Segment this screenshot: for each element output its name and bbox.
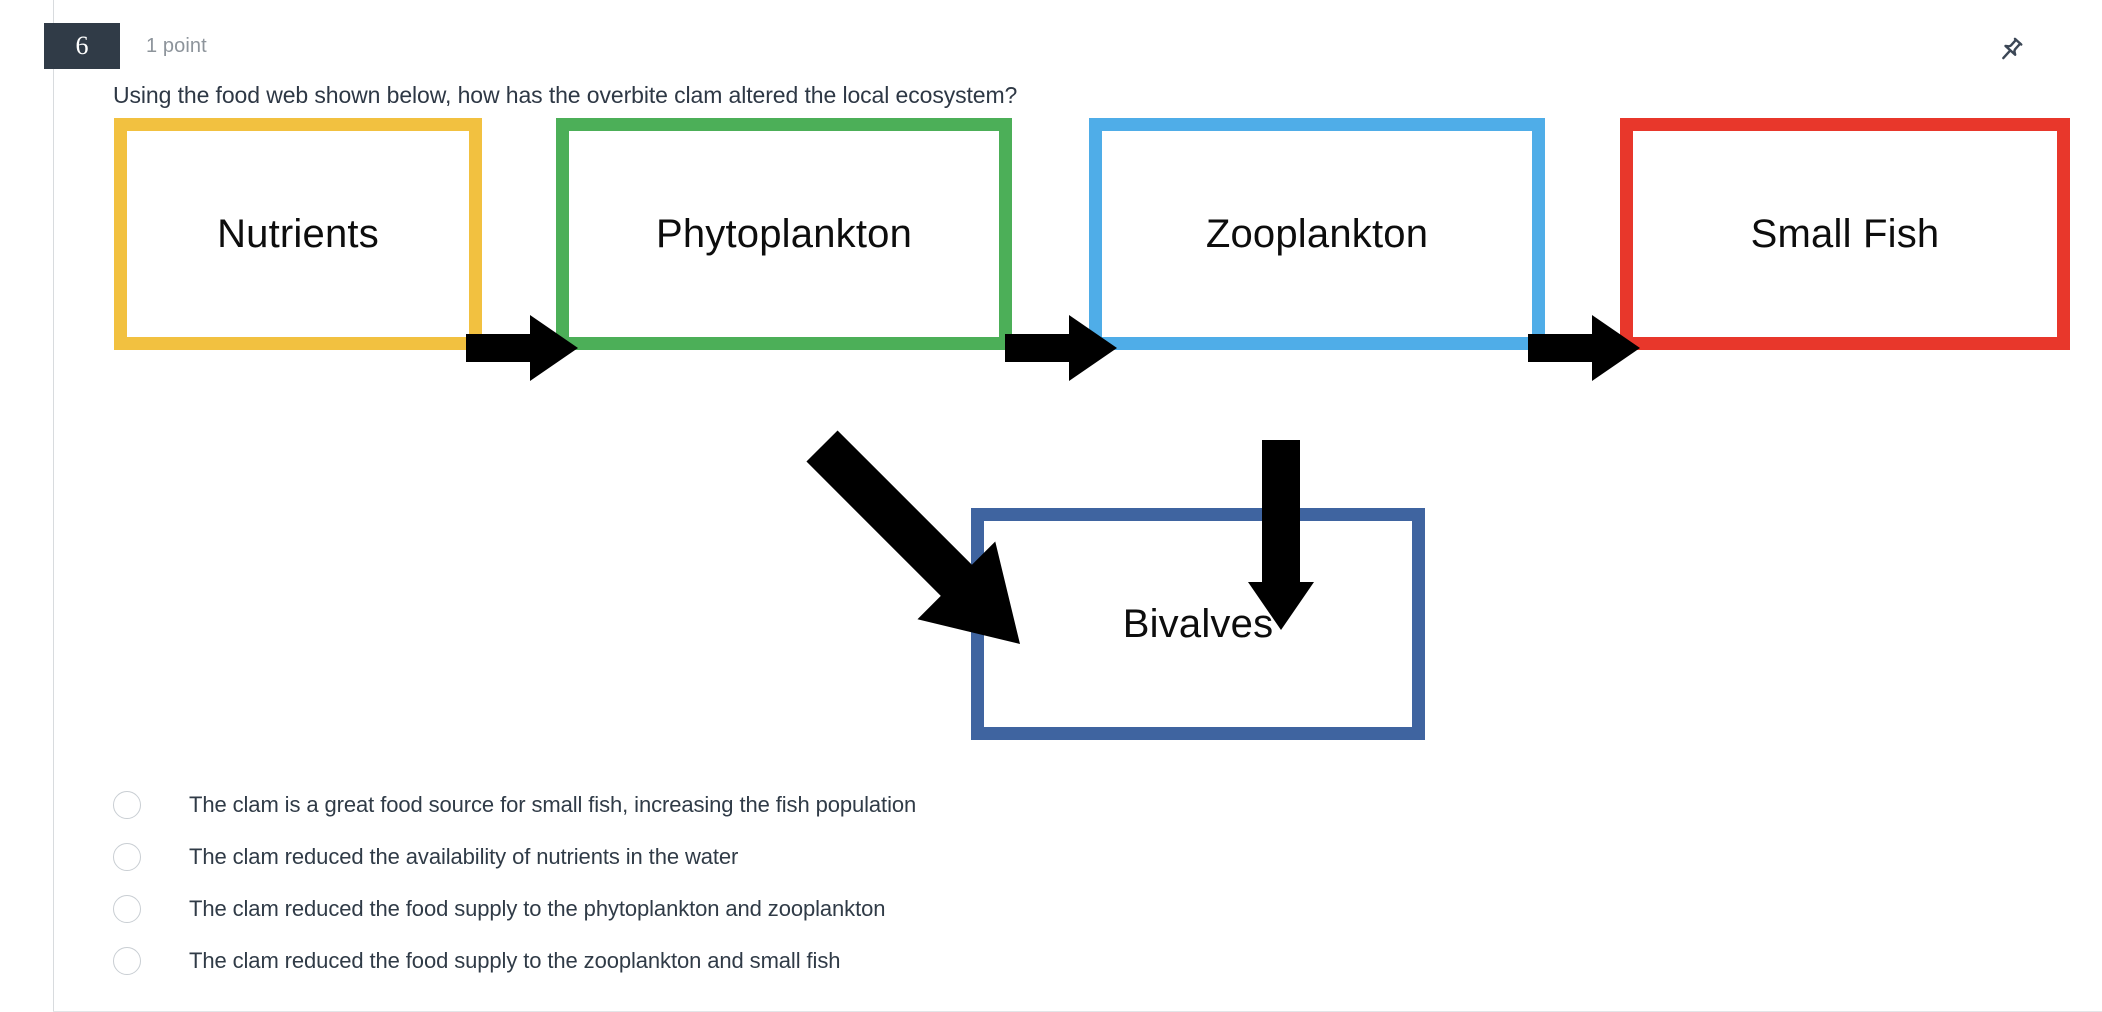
answer-option-label: The clam reduced the availability of nut… <box>189 844 738 870</box>
diagram-node-zooplankton: Zooplankton <box>1089 118 1545 350</box>
arrow-nutrients-to-phytoplankton <box>466 315 578 381</box>
diagram-node-nutrients: Nutrients <box>114 118 482 350</box>
radio-button-icon[interactable] <box>113 947 141 975</box>
radio-button-icon[interactable] <box>113 791 141 819</box>
answer-option-label: The clam reduced the food supply to the … <box>189 948 840 974</box>
answer-option-3[interactable]: The clam reduced the food supply to the … <box>113 883 1513 935</box>
question-header: 6 1 point <box>44 23 207 69</box>
node-label: Phytoplankton <box>656 212 912 257</box>
arrow-zooplankton-to-bivalves <box>1248 440 1314 630</box>
food-web-diagram: Nutrients Phytoplankton Zooplankton Smal… <box>0 110 2102 780</box>
diagram-node-phytoplankton: Phytoplankton <box>556 118 1012 350</box>
question-number-badge: 6 <box>44 23 120 69</box>
answer-option-1[interactable]: The clam is a great food source for smal… <box>113 779 1513 831</box>
answer-options-list: The clam is a great food source for smal… <box>113 779 1513 987</box>
diagram-node-small-fish: Small Fish <box>1620 118 2070 350</box>
node-label: Nutrients <box>217 212 379 257</box>
arrow-phytoplankton-to-zooplankton <box>1005 315 1117 381</box>
answer-option-label: The clam is a great food source for smal… <box>189 792 916 818</box>
question-points: 1 point <box>146 35 207 58</box>
answer-option-label: The clam reduced the food supply to the … <box>189 896 885 922</box>
arrow-phytoplankton-to-bivalves <box>795 428 1047 662</box>
node-label: Zooplankton <box>1206 212 1428 257</box>
answer-option-2[interactable]: The clam reduced the availability of nut… <box>113 831 1513 883</box>
question-page: 6 1 point Using the food web shown below… <box>0 0 2102 1012</box>
arrow-zooplankton-to-small-fish <box>1528 315 1640 381</box>
question-stem: Using the food web shown below, how has … <box>113 82 1017 109</box>
pushpin-icon[interactable] <box>1994 34 2028 68</box>
node-label: Small Fish <box>1751 212 1940 257</box>
radio-button-icon[interactable] <box>113 895 141 923</box>
answer-option-4[interactable]: The clam reduced the food supply to the … <box>113 935 1513 987</box>
radio-button-icon[interactable] <box>113 843 141 871</box>
